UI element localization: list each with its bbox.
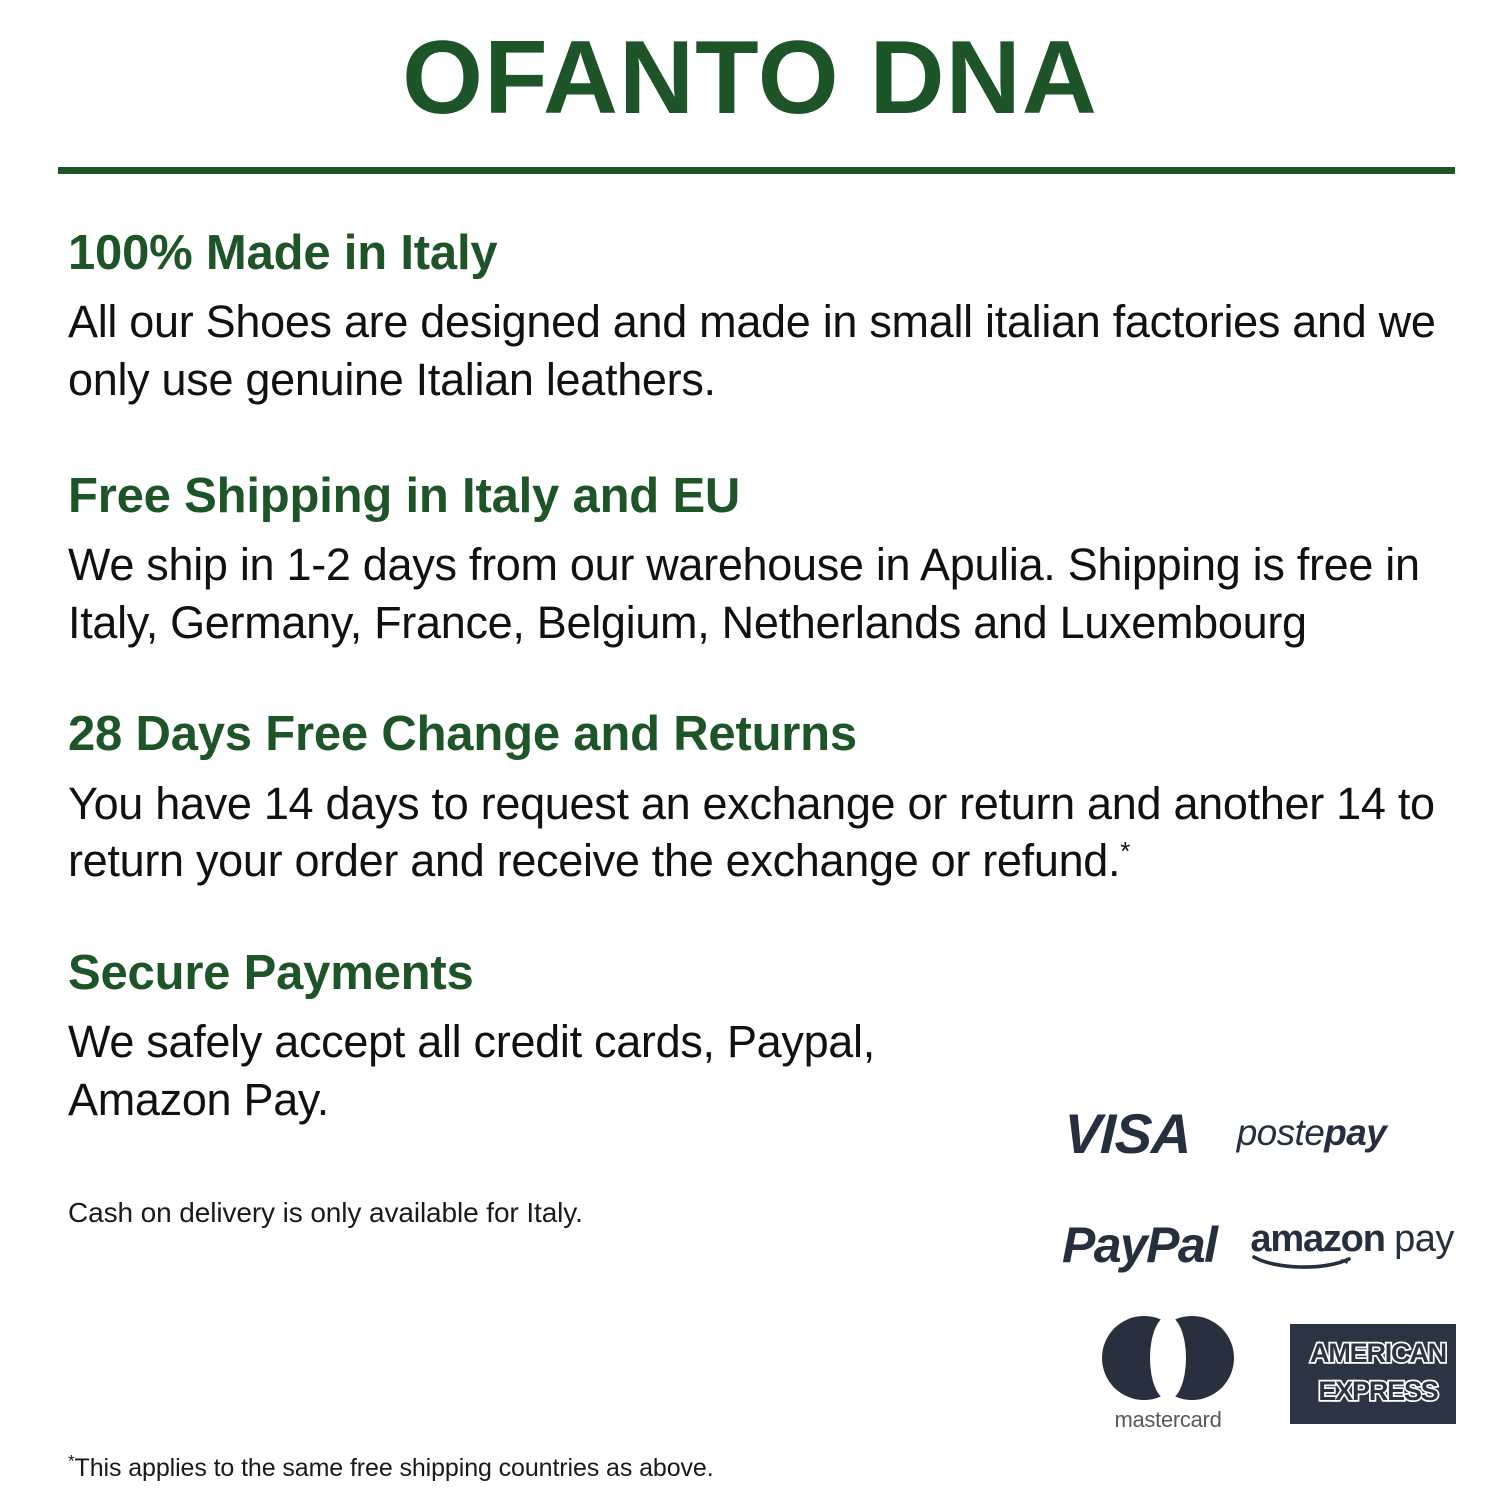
section-returns: 28 Days Free Change and Returns You have… [68,709,1500,890]
amazon-pay-icon: amazon pay [1250,1220,1453,1270]
section-free-shipping: Free Shipping in Italy and EU We ship in… [68,471,1500,652]
payment-logo-row-2: PayPal amazon pay [1056,1197,1456,1293]
payment-logos: VISA postepay PayPal amazon pay mast [1056,1085,1456,1439]
paypal-icon: PayPal [1062,1216,1216,1274]
section-heading-secure-payments: Secure Payments [68,948,968,999]
section-made-in-italy: 100% Made in Italy All our Shoes are des… [68,228,1500,409]
amex-line-1: AMERICAN [1290,1338,1466,1369]
header-divider [58,167,1455,174]
section-heading-free-shipping: Free Shipping in Italy and EU [68,471,1500,522]
postepay-label-light: poste [1237,1112,1325,1153]
mastercard-icon: mastercard [1102,1316,1234,1433]
promo-page: OFANTO DNA 100% Made in Italy All our Sh… [0,0,1500,1500]
content-area: 100% Made in Italy All our Shoes are des… [0,228,1500,1231]
footnote: *This applies to the same free shipping … [68,1452,714,1485]
mastercard-circles [1102,1316,1234,1400]
amex-line-2: EXPRESS [1290,1376,1466,1407]
section-body-returns-text: You have 14 days to request an exchange … [68,778,1435,887]
postepay-label-bold: pay [1324,1112,1386,1153]
amazon-smile-arrow-icon [1252,1254,1360,1270]
section-body-secure-payments: We safely accept all credit cards, Paypa… [68,1013,968,1128]
cash-on-delivery-note: Cash on delivery is only available for I… [68,1195,968,1231]
returns-footnote-marker: * [1120,836,1130,866]
mastercard-wordmark: mastercard [1102,1407,1234,1433]
page-title: OFANTO DNA [0,0,1500,130]
section-heading-made-in-italy: 100% Made in Italy [68,228,1500,279]
section-body-returns: You have 14 days to request an exchange … [68,775,1500,890]
payment-logo-row-1: VISA postepay [1056,1085,1456,1181]
section-body-free-shipping: We ship in 1-2 days from our warehouse i… [68,536,1500,651]
payment-logo-row-3: mastercard AMERICAN EXPRESS [1056,1309,1456,1439]
postepay-icon: postepay [1237,1112,1386,1154]
american-express-icon: AMERICAN EXPRESS [1290,1324,1456,1424]
amazon-pay-pay-label: pay [1394,1218,1454,1260]
visa-icon: VISA [1063,1101,1192,1166]
section-heading-returns: 28 Days Free Change and Returns [68,709,1500,760]
section-body-made-in-italy: All our Shoes are designed and made in s… [68,293,1500,408]
payments-text-block: Secure Payments We safely accept all cre… [68,948,968,1231]
footnote-text: This applies to the same free shipping c… [75,1454,714,1482]
